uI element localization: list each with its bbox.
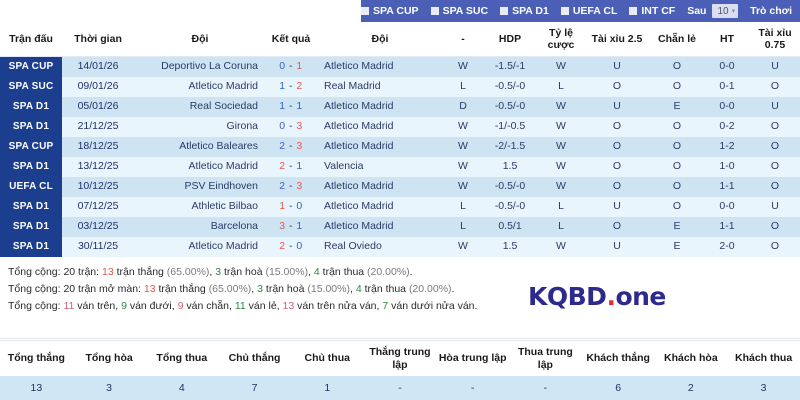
- match-row[interactable]: SPA D107/12/25Athletic Bilbao1 - 0Atleti…: [0, 197, 800, 217]
- stat-header-3: Chủ thắng: [218, 341, 291, 377]
- summary-block: Tổng cộng: 20 trận: 13 trận thắng (65.00…: [0, 257, 800, 319]
- score-separator: -: [286, 140, 297, 152]
- column-header-2: Đội: [134, 22, 266, 57]
- odds-result: W: [538, 117, 584, 137]
- match-date: 14/01/26: [62, 57, 134, 77]
- match-score: 0 - 1: [266, 57, 316, 77]
- league-filter-label: SPA D1: [512, 5, 549, 17]
- score-separator: -: [286, 120, 297, 132]
- match-score: 1 - 1: [266, 97, 316, 117]
- over-under-075: O: [750, 137, 800, 157]
- away-score: 3: [296, 180, 302, 192]
- away-team: Valencia: [316, 157, 444, 177]
- column-header-10: HT: [704, 22, 750, 57]
- summary-prefix: Tổng cộng: 20 trận:: [8, 266, 102, 278]
- summary3-overhalf: 13: [283, 300, 295, 312]
- toolbar-spacer: [0, 0, 361, 22]
- result-indicator: W: [444, 137, 482, 157]
- match-score: 1 - 0: [266, 197, 316, 217]
- summary2-wins-text: trận thắng: [156, 283, 209, 295]
- handicap-value: -0.5/-0: [482, 97, 538, 117]
- league-filter-label: UEFA CL: [573, 5, 618, 17]
- halftime-score: 0-2: [704, 117, 750, 137]
- away-team: Real Oviedo: [316, 237, 444, 257]
- score-separator: -: [286, 220, 297, 232]
- odd-even: O: [650, 57, 704, 77]
- away-score: 3: [296, 120, 302, 132]
- away-team: Real Madrid: [316, 77, 444, 97]
- match-date: 05/01/26: [62, 97, 134, 117]
- match-row[interactable]: SPA D103/12/25Barcelona3 - 1Atletico Mad…: [0, 217, 800, 237]
- summary2-prefix: Tổng cộng: 20 trận mở màn:: [8, 283, 144, 295]
- over-under-075: U: [750, 97, 800, 117]
- league-badge: SPA D1: [0, 97, 62, 117]
- over-under-25: O: [584, 137, 650, 157]
- home-team: Atletico Madrid: [134, 237, 266, 257]
- over-under-25: O: [584, 157, 650, 177]
- summary3-over-text: ván trên,: [74, 300, 121, 312]
- match-date: 03/12/25: [62, 217, 134, 237]
- match-count-value: 10: [717, 6, 728, 17]
- home-team: Girona: [134, 117, 266, 137]
- section-divider: [0, 338, 800, 339]
- match-date: 18/12/25: [62, 137, 134, 157]
- summary2-losses-pct: (20.00%): [409, 283, 452, 295]
- match-row[interactable]: SPA CUP18/12/25Atletico Baleares2 - 3Atl…: [0, 137, 800, 157]
- stat-header-9: Khách hòa: [654, 341, 727, 377]
- result-indicator: W: [444, 157, 482, 177]
- match-date: 30/11/25: [62, 237, 134, 257]
- stat-value-2: 4: [145, 376, 218, 400]
- odds-result: W: [538, 97, 584, 117]
- summary-losses-pct: (20.00%): [367, 266, 410, 278]
- handicap-value: 1.5: [482, 237, 538, 257]
- column-header-5: -: [444, 22, 482, 57]
- filter-toolbar: SPA CUPSPA SUCSPA D1UEFA CLINT CF Sau 10…: [0, 0, 800, 22]
- odds-result: W: [538, 137, 584, 157]
- stat-header-4: Chủ thua: [291, 341, 364, 377]
- match-row[interactable]: SPA SUC09/01/26Atletico Madrid1 - 2Real …: [0, 77, 800, 97]
- stats-values-row: 133471---623: [0, 376, 800, 400]
- summary3-underhalf-text: ván dưới nửa ván.: [388, 300, 477, 312]
- over-under-25: U: [584, 197, 650, 217]
- home-team: Athletic Bilbao: [134, 197, 266, 217]
- match-row[interactable]: SPA D105/01/26Real Sociedad1 - 1Atletico…: [0, 97, 800, 117]
- result-indicator: L: [444, 197, 482, 217]
- league-filter-group: SPA CUPSPA SUCSPA D1UEFA CLINT CF: [361, 5, 687, 17]
- summary2-draws-pct: (15.00%): [307, 283, 350, 295]
- summary2-wins: 13: [144, 283, 156, 295]
- stat-header-0: Tổng thắng: [0, 341, 73, 377]
- home-team: PSV Eindhoven: [134, 177, 266, 197]
- logo-part-2: one: [615, 282, 665, 311]
- over-under-075: O: [750, 157, 800, 177]
- site-logo[interactable]: KQBD.one: [528, 282, 666, 311]
- match-row[interactable]: SPA CUP14/01/26Deportivo La Coruna0 - 1A…: [0, 57, 800, 77]
- column-header-0: Trận đấu: [0, 22, 62, 57]
- away-team: Atletico Madrid: [316, 177, 444, 197]
- result-indicator: W: [444, 237, 482, 257]
- handicap-value: -2/-1.5: [482, 137, 538, 157]
- league-filter-spa-d1[interactable]: SPA D1: [500, 5, 549, 17]
- column-header-3: Kết quả: [266, 22, 316, 57]
- odds-result: W: [538, 57, 584, 77]
- match-score: 0 - 3: [266, 117, 316, 137]
- league-badge: SPA CUP: [0, 57, 62, 77]
- column-header-1: Thời gian: [62, 22, 134, 57]
- league-filter-label: INT CF: [641, 5, 675, 17]
- away-score: 1: [296, 100, 302, 112]
- over-under-075: O: [750, 117, 800, 137]
- summary-wins-pct: (65.00%): [167, 266, 210, 278]
- score-separator: -: [286, 200, 297, 212]
- summary-line-1: Tổng cộng: 20 trận: 13 trận thắng (65.00…: [8, 264, 792, 281]
- away-team: Atletico Madrid: [316, 137, 444, 157]
- match-date: 13/12/25: [62, 157, 134, 177]
- stat-value-9: 2: [654, 376, 727, 400]
- away-score: 0: [296, 240, 302, 252]
- table-body: SPA CUP14/01/26Deportivo La Coruna0 - 1A…: [0, 57, 800, 257]
- halftime-score: 0-0: [704, 197, 750, 217]
- stats-body: 133471---623: [0, 376, 800, 400]
- over-under-075: U: [750, 197, 800, 217]
- summary-line-3: Tổng cộng: 11 ván trên, 9 ván đưới, 9 vá…: [8, 298, 792, 315]
- checkbox-icon[interactable]: [561, 7, 569, 15]
- stat-value-8: 6: [582, 376, 655, 400]
- home-team: Atletico Madrid: [134, 77, 266, 97]
- match-row[interactable]: UEFA CL10/12/25PSV Eindhoven2 - 3Atletic…: [0, 177, 800, 197]
- table-header-row: Trận đấuThời gianĐộiKết quảĐội-HDPTỷ lệ …: [0, 22, 800, 57]
- halftime-score: 1-0: [704, 157, 750, 177]
- away-score: 2: [296, 80, 302, 92]
- checkbox-icon[interactable]: [361, 7, 369, 15]
- match-date: 09/01/26: [62, 77, 134, 97]
- away-team: Atletico Madrid: [316, 57, 444, 77]
- stat-header-2: Tổng thua: [145, 341, 218, 377]
- stat-value-4: 1: [291, 376, 364, 400]
- checkbox-icon[interactable]: [629, 7, 637, 15]
- summary2-end: .: [452, 283, 455, 295]
- halftime-score: 1-1: [704, 177, 750, 197]
- odds-result: L: [538, 217, 584, 237]
- over-under-075: O: [750, 77, 800, 97]
- stat-header-5: Thắng trung lập: [364, 341, 437, 377]
- handicap-value: -0.5/-0: [482, 197, 538, 217]
- halftime-score: 0-0: [704, 97, 750, 117]
- stat-value-5: -: [364, 376, 437, 400]
- odd-even: E: [650, 217, 704, 237]
- odds-result: W: [538, 237, 584, 257]
- away-team: Atletico Madrid: [316, 197, 444, 217]
- score-separator: -: [286, 80, 297, 92]
- result-indicator: D: [444, 97, 482, 117]
- match-score: 2 - 1: [266, 157, 316, 177]
- halftime-score: 0-1: [704, 77, 750, 97]
- away-score: 1: [296, 60, 302, 72]
- column-header-7: Tỷ lệ cược: [538, 22, 584, 57]
- over-under-25: U: [584, 57, 650, 77]
- match-history-widget: SPA CUPSPA SUCSPA D1UEFA CLINT CF Sau 10…: [0, 0, 800, 400]
- league-badge: SPA D1: [0, 157, 62, 177]
- match-date: 21/12/25: [62, 117, 134, 137]
- over-under-25: U: [584, 97, 650, 117]
- odds-result: L: [538, 197, 584, 217]
- summary3-prefix: Tổng cộng:: [8, 300, 63, 312]
- after-label: Sau: [687, 5, 706, 17]
- match-score: 1 - 2: [266, 77, 316, 97]
- match-score: 2 - 0: [266, 237, 316, 257]
- halftime-score: 1-2: [704, 137, 750, 157]
- league-filter-label: SPA CUP: [373, 5, 419, 17]
- home-team: Atletico Baleares: [134, 137, 266, 157]
- over-under-25: O: [584, 77, 650, 97]
- home-team: Barcelona: [134, 217, 266, 237]
- column-header-11: Tài xỉu 0.75: [750, 22, 800, 57]
- odds-result: W: [538, 157, 584, 177]
- summary3-even-text: ván chẵn,: [183, 300, 234, 312]
- result-indicator: W: [444, 177, 482, 197]
- column-header-6: HDP: [482, 22, 538, 57]
- summary3-odd: 11: [235, 300, 246, 312]
- summary-line-2: Tổng cộng: 20 trận mở màn: 13 trận thắng…: [8, 281, 792, 298]
- summary3-odd-text: ván lẻ,: [246, 300, 283, 312]
- result-indicator: W: [444, 117, 482, 137]
- league-filter-spa-suc[interactable]: SPA SUC: [431, 5, 489, 17]
- league-badge: SPA SUC: [0, 77, 62, 97]
- handicap-value: 0.5/1: [482, 217, 538, 237]
- game-label: Trò chơi: [750, 5, 792, 17]
- over-under-25: U: [584, 237, 650, 257]
- league-badge: SPA D1: [0, 217, 62, 237]
- home-team: Deportivo La Coruna: [134, 57, 266, 77]
- league-badge: SPA CUP: [0, 137, 62, 157]
- result-indicator: L: [444, 217, 482, 237]
- match-history-table: Trận đấuThời gianĐộiKết quảĐội-HDPTỷ lệ …: [0, 22, 800, 257]
- odds-result: L: [538, 77, 584, 97]
- stat-value-10: 3: [727, 376, 800, 400]
- stat-value-6: -: [436, 376, 509, 400]
- summary-draws-pct: (15.00%): [265, 266, 308, 278]
- league-filter-label: SPA SUC: [443, 5, 489, 17]
- odd-even: O: [650, 197, 704, 217]
- match-date: 07/12/25: [62, 197, 134, 217]
- handicap-value: -1/-0.5: [482, 117, 538, 137]
- summary-wins-text: trận thắng: [114, 266, 167, 278]
- match-date: 10/12/25: [62, 177, 134, 197]
- summary-end-1: .: [410, 266, 413, 278]
- handicap-value: 1.5: [482, 157, 538, 177]
- logo-part-1: KQBD: [528, 282, 606, 311]
- score-separator: -: [286, 100, 297, 112]
- summary3-overhalf-text: ván trên nửa ván,: [294, 300, 382, 312]
- result-indicator: W: [444, 57, 482, 77]
- stat-header-10: Khách thua: [727, 341, 800, 377]
- match-row[interactable]: SPA D113/12/25Atletico Madrid2 - 1Valenc…: [0, 157, 800, 177]
- summary-stats-table: Tổng thắngTổng hòaTổng thuaChủ thắngChủ …: [0, 340, 800, 400]
- summary-draws-text: trận hoà: [221, 266, 265, 278]
- column-header-8: Tài xỉu 2.5: [584, 22, 650, 57]
- match-count-select[interactable]: 10 ▾: [712, 4, 738, 18]
- handicap-value: -0.5/-0: [482, 177, 538, 197]
- summary3-under-text: ván đưới,: [127, 300, 178, 312]
- odd-even: O: [650, 137, 704, 157]
- score-separator: -: [286, 160, 297, 172]
- league-filter-spa-cup[interactable]: SPA CUP: [361, 5, 419, 17]
- score-separator: -: [286, 180, 297, 192]
- chevron-down-icon: ▾: [732, 8, 736, 15]
- league-filter-uefa-cl[interactable]: UEFA CL: [561, 5, 618, 17]
- away-team: Atletico Madrid: [316, 97, 444, 117]
- odd-even: O: [650, 177, 704, 197]
- summary2-wins-pct: (65.00%): [209, 283, 252, 295]
- match-row[interactable]: SPA D121/12/25Girona0 - 3Atletico Madrid…: [0, 117, 800, 137]
- stat-value-7: -: [509, 376, 582, 400]
- summary3-over: 11: [63, 300, 74, 312]
- stat-header-6: Hòa trung lập: [436, 341, 509, 377]
- stat-value-0: 13: [0, 376, 73, 400]
- checkbox-icon[interactable]: [500, 7, 508, 15]
- stat-value-3: 7: [218, 376, 291, 400]
- over-under-25: O: [584, 217, 650, 237]
- over-under-25: O: [584, 117, 650, 137]
- league-badge: SPA D1: [0, 197, 62, 217]
- odd-even: E: [650, 97, 704, 117]
- over-under-075: U: [750, 57, 800, 77]
- stat-header-7: Thua trung lập: [509, 341, 582, 377]
- summary2-losses-text: trận thua: [362, 283, 409, 295]
- over-under-25: O: [584, 177, 650, 197]
- summary2-draws-text: trận hoà: [263, 283, 307, 295]
- away-score: 1: [296, 220, 302, 232]
- league-filter-int-cf[interactable]: INT CF: [629, 5, 675, 17]
- league-badge: UEFA CL: [0, 177, 62, 197]
- home-team: Atletico Madrid: [134, 157, 266, 177]
- stat-value-1: 3: [73, 376, 146, 400]
- home-team: Real Sociedad: [134, 97, 266, 117]
- odd-even: O: [650, 157, 704, 177]
- match-score: 3 - 1: [266, 217, 316, 237]
- league-badge: SPA D1: [0, 117, 62, 137]
- stat-header-1: Tổng hòa: [73, 341, 146, 377]
- summary-losses-text: trận thua: [320, 266, 367, 278]
- match-row[interactable]: SPA D130/11/25Atletico Madrid2 - 0Real O…: [0, 237, 800, 257]
- match-score: 2 - 3: [266, 177, 316, 197]
- result-indicator: L: [444, 77, 482, 97]
- away-team: Atletico Madrid: [316, 217, 444, 237]
- away-score: 1: [296, 160, 302, 172]
- away-score: 3: [296, 140, 302, 152]
- halftime-score: 0-0: [704, 57, 750, 77]
- odd-even: O: [650, 77, 704, 97]
- odds-result: W: [538, 177, 584, 197]
- score-separator: -: [286, 240, 297, 252]
- over-under-075: O: [750, 217, 800, 237]
- checkbox-icon[interactable]: [431, 7, 439, 15]
- match-score: 2 - 3: [266, 137, 316, 157]
- away-team: Atletico Madrid: [316, 117, 444, 137]
- league-badge: SPA D1: [0, 237, 62, 257]
- handicap-value: -1.5/-1: [482, 57, 538, 77]
- over-under-075: O: [750, 237, 800, 257]
- halftime-score: 2-0: [704, 237, 750, 257]
- stat-header-8: Khách thắng: [582, 341, 655, 377]
- score-separator: -: [286, 60, 297, 72]
- over-under-075: O: [750, 177, 800, 197]
- column-header-4: Đội: [316, 22, 444, 57]
- odd-even: O: [650, 117, 704, 137]
- stats-header: Tổng thắngTổng hòaTổng thuaChủ thắngChủ …: [0, 341, 800, 377]
- summary-wins: 13: [102, 266, 114, 278]
- odd-even: E: [650, 237, 704, 257]
- away-score: 0: [296, 200, 302, 212]
- halftime-score: 1-1: [704, 217, 750, 237]
- handicap-value: -0.5/-0: [482, 77, 538, 97]
- column-header-9: Chẵn lẻ: [650, 22, 704, 57]
